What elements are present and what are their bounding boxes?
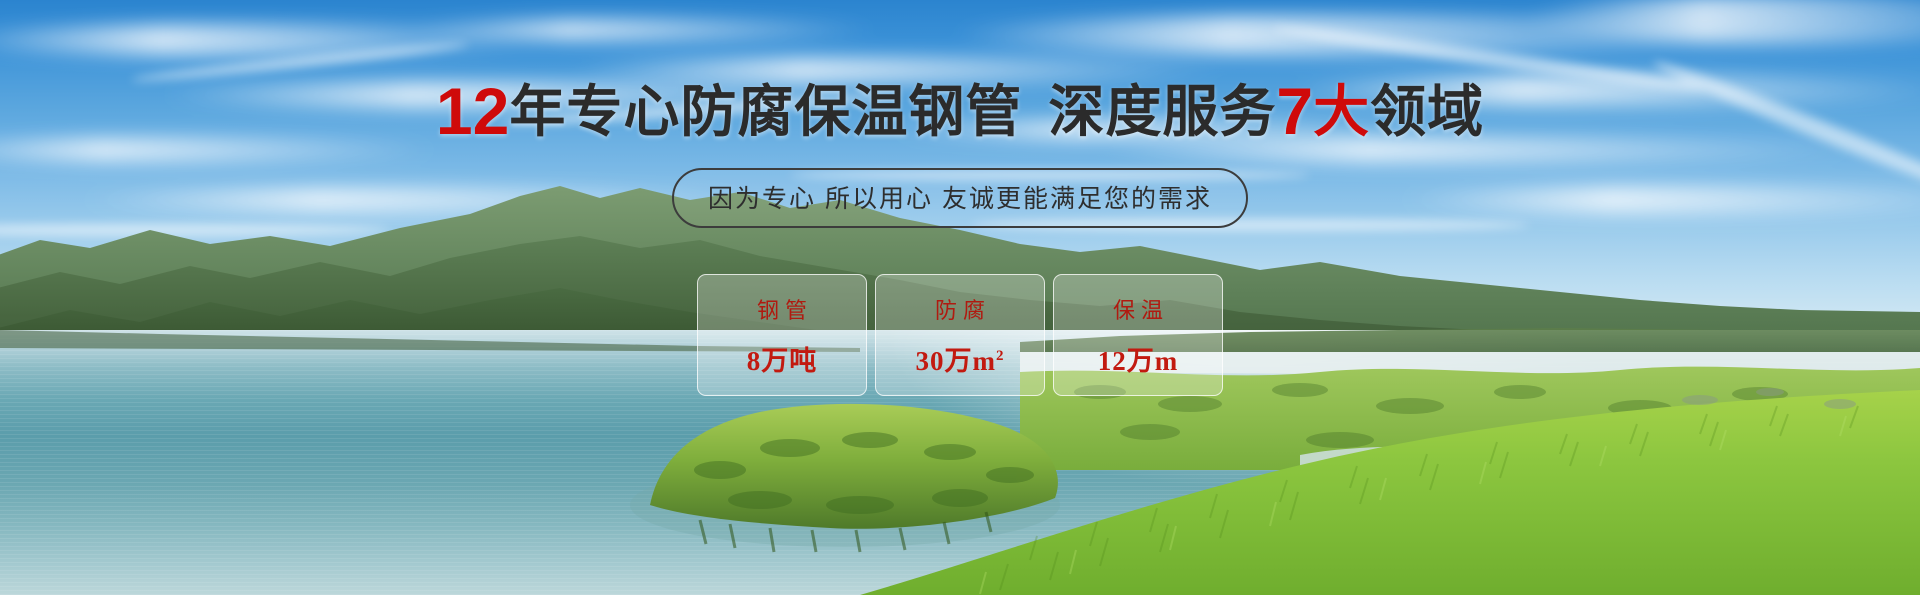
headline-number-years: 12: [436, 74, 509, 148]
headline-text-4: 领域: [1370, 80, 1484, 143]
stat-card-value: 8万吨: [747, 339, 818, 378]
subtitle-pill: 因为专心 所以用心 友诚更能满足您的需求: [672, 168, 1248, 228]
headline: 12年专心防腐保温钢管深度服务7大领域: [0, 78, 1920, 144]
headline-text-3: 大: [1313, 80, 1370, 143]
headline-text-1: 年专心防腐保温钢管: [509, 80, 1022, 143]
headline-text-2: 深度服务: [1048, 80, 1276, 143]
hero-banner: 12年专心防腐保温钢管深度服务7大领域 因为专心 所以用心 友诚更能满足您的需求…: [0, 0, 1920, 595]
stat-card-value: 12万m: [1098, 339, 1179, 378]
stat-card: 保温 12万m: [1053, 274, 1223, 396]
stat-card: 钢管 8万吨: [697, 274, 867, 396]
stat-card-label: 钢管: [751, 293, 813, 325]
subtitle-wrapper: 因为专心 所以用心 友诚更能满足您的需求: [0, 168, 1920, 228]
stat-card-value-text: 12万m: [1098, 346, 1179, 376]
banner-content: 12年专心防腐保温钢管深度服务7大领域 因为专心 所以用心 友诚更能满足您的需求…: [0, 0, 1920, 396]
stat-card-label: 保温: [1107, 293, 1169, 325]
stat-card-value-text: 8万吨: [747, 346, 818, 376]
stat-card-value-text: 30万m: [916, 346, 997, 376]
headline-number-fields: 7: [1276, 74, 1313, 148]
stat-card-group: 钢管 8万吨 防腐 30万m2 保温 12万m: [0, 274, 1920, 396]
stat-card: 防腐 30万m2: [875, 274, 1045, 396]
stat-card-value-sup: 2: [996, 348, 1005, 364]
stat-card-value: 30万m2: [916, 339, 1005, 378]
stat-card-label: 防腐: [929, 293, 991, 325]
